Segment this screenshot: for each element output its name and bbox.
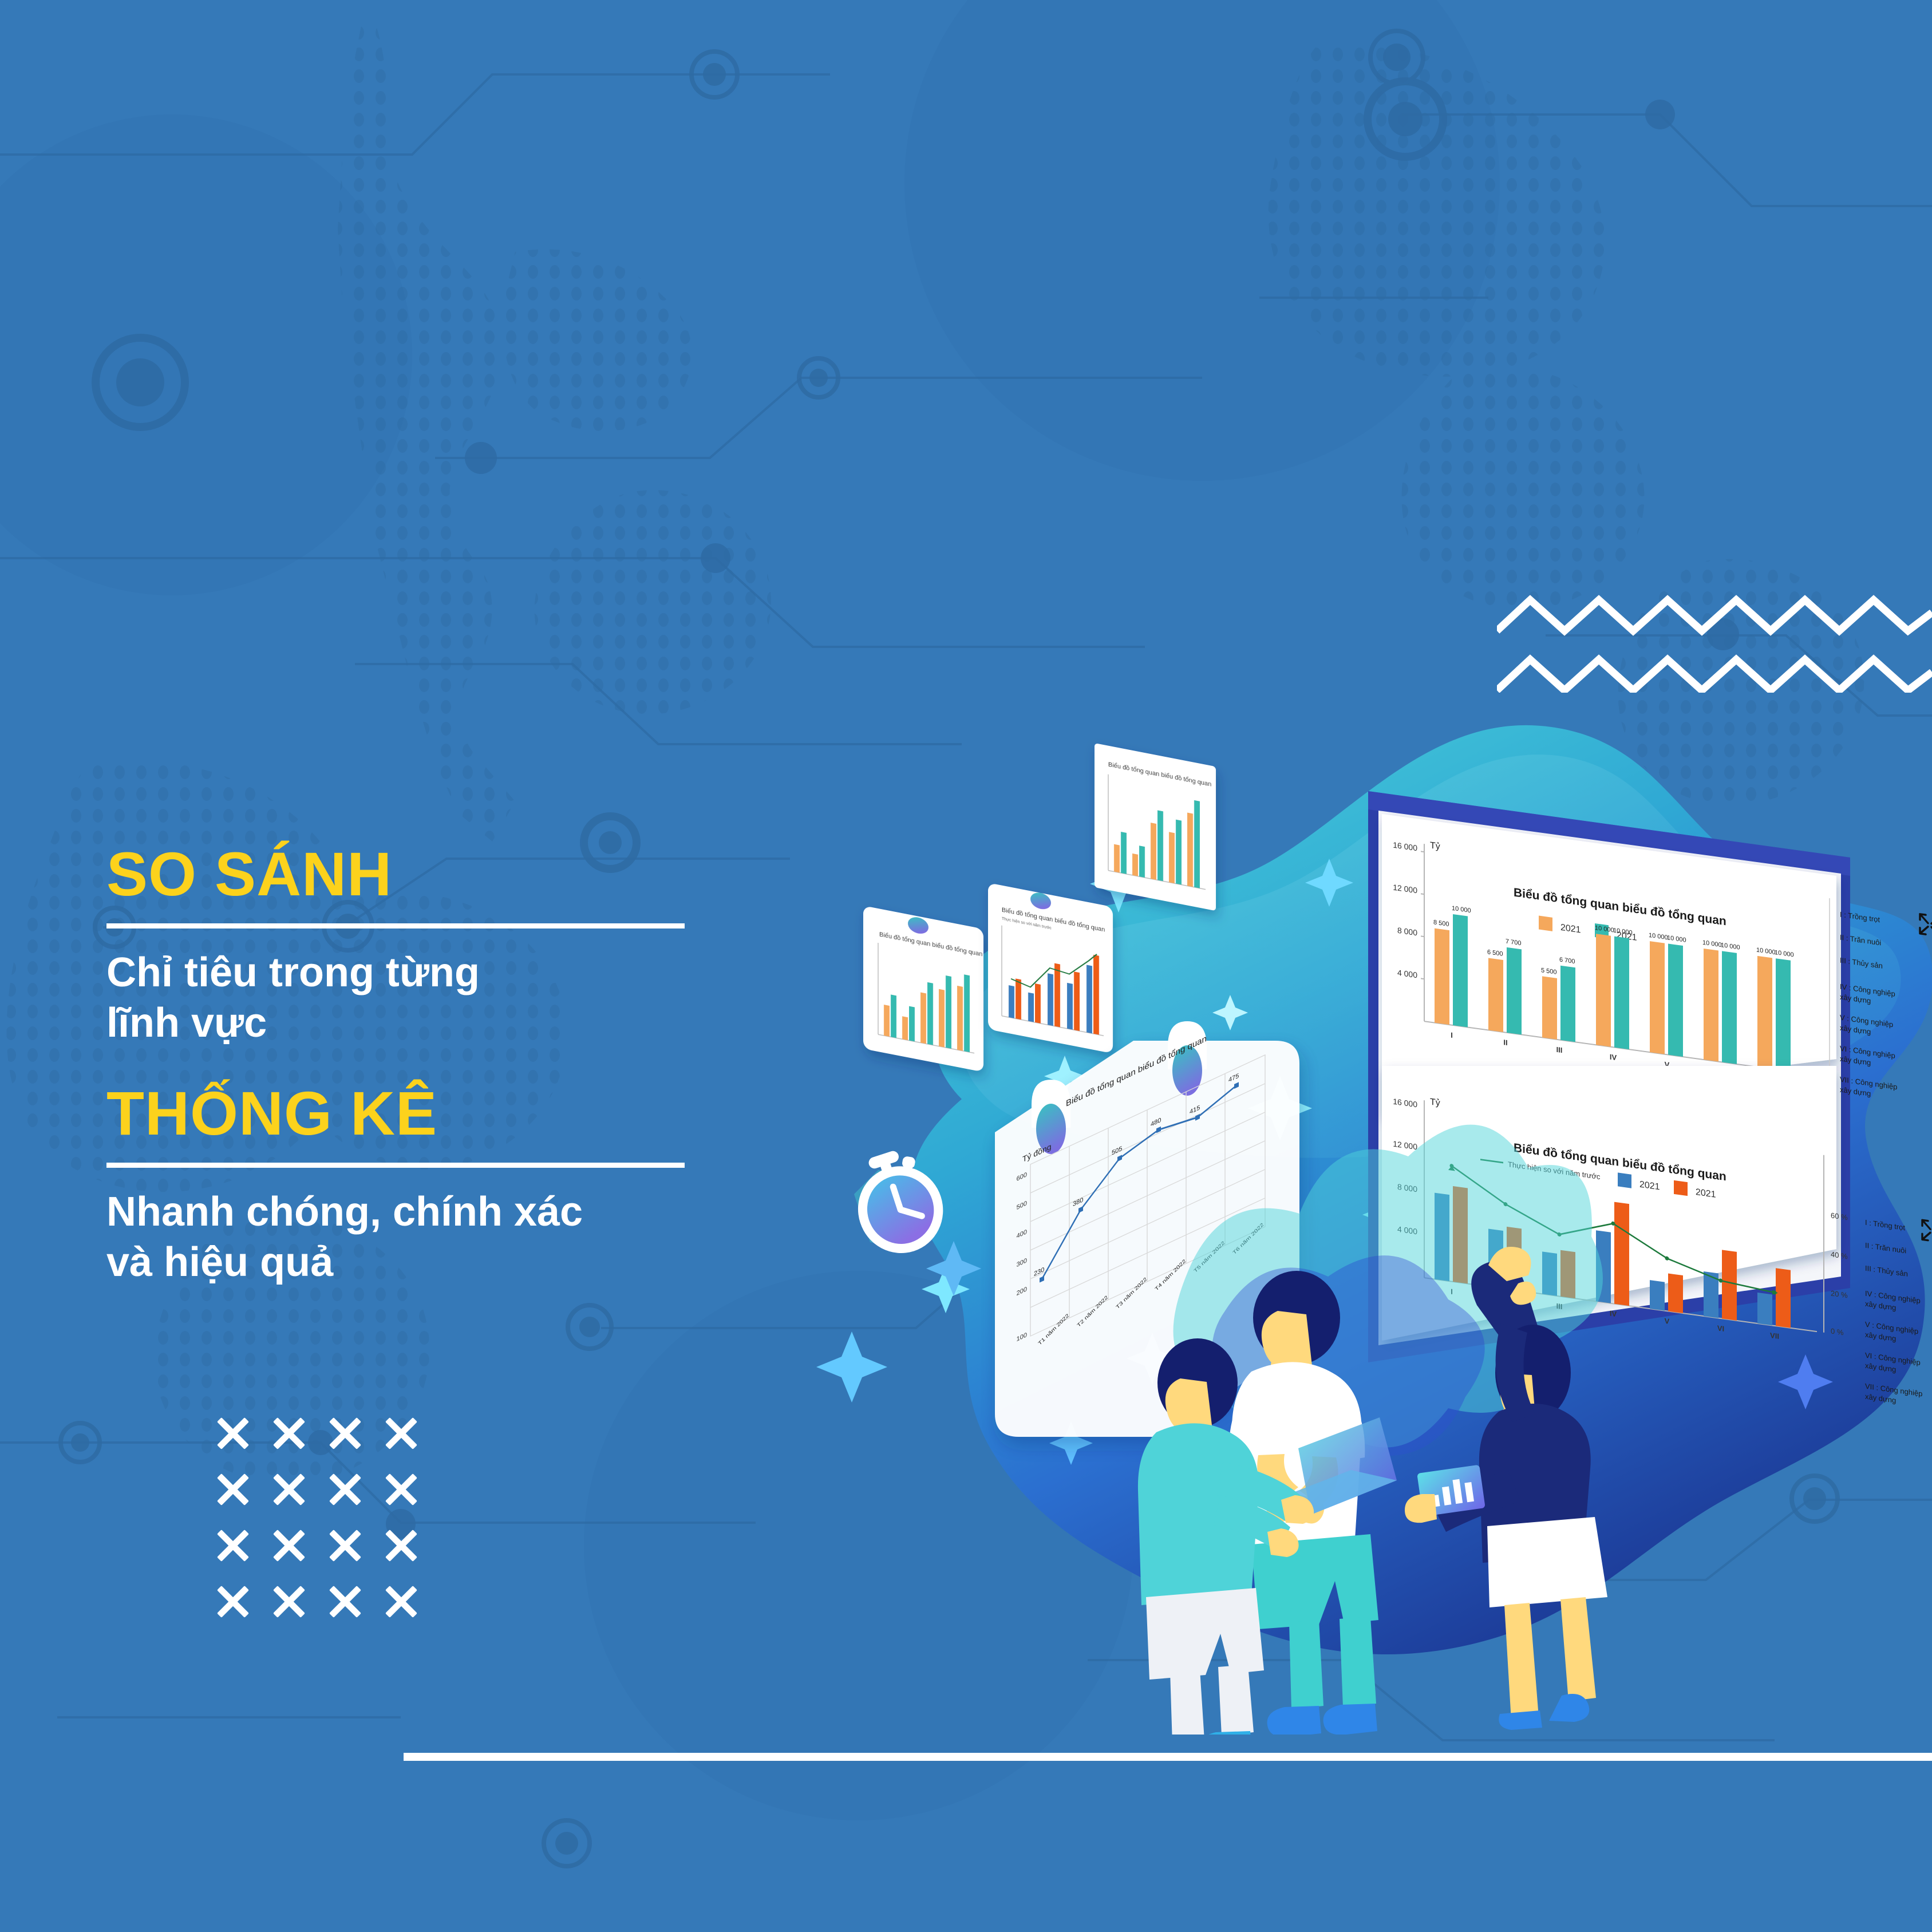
x-mark-icon <box>205 1461 261 1518</box>
x-mark-icon <box>261 1574 317 1630</box>
divider-1 <box>106 923 685 929</box>
svg-text:III: III <box>1556 1045 1563 1054</box>
subtitle-2-line-2: và hiệu quả <box>106 1238 748 1288</box>
svg-text:I: I <box>1451 1031 1453 1040</box>
subtitle-1-line-2: lĩnh vực <box>106 998 748 1049</box>
headline-thong-ke: THỐNG KÊ <box>106 1081 748 1145</box>
subtitle-2-line-1: Nhanh chóng, chính xác <box>106 1187 748 1238</box>
x-mark-icon <box>373 1461 429 1518</box>
svg-text:IV: IV <box>1610 1309 1617 1319</box>
svg-text:VII: VII <box>1770 1331 1779 1341</box>
x-mark-icon <box>205 1518 261 1574</box>
poster-canvas: SO SÁNH Chỉ tiêu trong từng lĩnh vực THỐ… <box>0 0 1932 1932</box>
floating-card-bars-1: Biểu đồ tổng quan biểu đồ tổng quan <box>863 906 983 1072</box>
x-mark-icon <box>317 1461 373 1518</box>
svg-text:Tỷ: Tỷ <box>1430 840 1440 852</box>
x-marks-grid <box>205 1405 429 1630</box>
x-mark-icon <box>373 1574 429 1630</box>
floating-card-bars-2: Biểu đồ tổng quan biểu đồ tổng quan Thực… <box>988 883 1113 1053</box>
x-mark-icon <box>317 1574 373 1630</box>
expand-icon[interactable] <box>1920 914 1932 937</box>
x-mark-icon <box>317 1405 373 1461</box>
headline-so-sanh: SO SÁNH <box>106 841 748 906</box>
svg-text:Tỷ: Tỷ <box>1430 1097 1440 1108</box>
x-mark-icon <box>205 1405 261 1461</box>
x-mark-icon <box>261 1518 317 1574</box>
svg-text:V: V <box>1665 1317 1670 1326</box>
divider-2 <box>106 1163 685 1168</box>
x-mark-icon <box>261 1405 317 1461</box>
x-mark-icon <box>205 1574 261 1630</box>
bottom-divider <box>404 1753 1932 1761</box>
svg-text:VI: VI <box>1717 1323 1724 1333</box>
copy-block: SO SÁNH Chỉ tiêu trong từng lĩnh vực THỐ… <box>106 841 748 1288</box>
expand-icon[interactable] <box>1922 1220 1932 1242</box>
x-mark-icon <box>261 1461 317 1518</box>
svg-text:IV: IV <box>1610 1053 1617 1062</box>
svg-text:II: II <box>1503 1038 1507 1047</box>
zigzag-decoration <box>1497 584 1932 693</box>
x-mark-icon <box>373 1405 429 1461</box>
floating-card-bars-3: Biểu đồ tổng quan biểu đồ tổng quan <box>1095 743 1216 911</box>
x-mark-icon <box>373 1518 429 1574</box>
subtitle-1-line-1: Chỉ tiêu trong từng <box>106 948 748 998</box>
dashboard-illustration: Biểu đồ tổng quan biểu đồ tổng quan <box>790 704 1932 1735</box>
x-mark-icon <box>317 1518 373 1574</box>
svg-text:0 %: 0 % <box>1831 1326 1844 1337</box>
